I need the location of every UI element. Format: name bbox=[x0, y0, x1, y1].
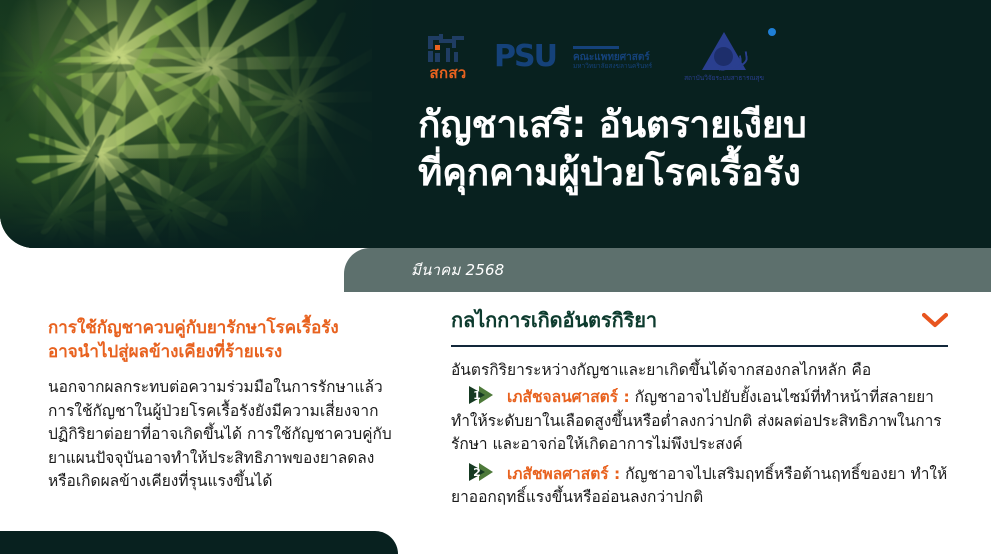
right-column: กลไกการเกิดอันตรกิริยา อันตรกิริยาระหว่า… bbox=[451, 304, 948, 510]
bottom-accent-shape bbox=[0, 531, 398, 554]
page-title: กัญชาเสรี: อันตรายเงียบ ที่คุกคามผู้ป่วย… bbox=[418, 101, 958, 197]
section-title: กลไกการเกิดอันตรกิริยา bbox=[451, 304, 657, 336]
mechanism-term: เภสัชจลนศาสตร์ : bbox=[507, 388, 630, 406]
hsri-logo-label: สถาบันวิจัยระบบสาธารณสุข bbox=[684, 73, 764, 83]
tsri-mark-icon bbox=[426, 34, 470, 64]
page-title-line2: ที่คุกคามผู้ป่วยโรคเรื้อรัง bbox=[418, 149, 958, 197]
page-title-line1: กัญชาเสรี: อันตรายเงียบ bbox=[418, 103, 807, 146]
left-paragraph: นอกจากผลกระทบต่อความร่วมมือในการรักษาแล้… bbox=[48, 376, 400, 494]
section-divider bbox=[451, 345, 948, 347]
mechanism-term: เภสัชพลศาสตร์ : bbox=[507, 465, 620, 483]
date-text: มีนาคม 2568 bbox=[411, 258, 504, 282]
hsri-logo: สถาบันวิจัยระบบสาธารณสุข bbox=[684, 32, 764, 83]
tsri-logo: สกสว bbox=[420, 34, 476, 81]
mechanism-item: 1 เภสัชจลนศาสตร์ : กัญชาอาจไปยับยั้งเอนไ… bbox=[451, 386, 948, 457]
chevron-down-icon[interactable] bbox=[922, 312, 948, 328]
hsri-triangle-icon bbox=[698, 32, 750, 72]
number-badge-icon: 1 bbox=[469, 386, 499, 405]
badge-number: 2 bbox=[471, 464, 483, 481]
infographic-page: สกสว PSU คณะแพทยศาสตร์ มหาวิทยาลัยสงขลาน… bbox=[0, 0, 991, 554]
number-badge-icon: 2 bbox=[469, 463, 499, 482]
logo-strip: สกสว PSU คณะแพทยศาสตร์ มหาวิทยาลัยสงขลาน… bbox=[420, 26, 764, 88]
psu-university-label: มหาวิทยาลัยสงขลานครินทร์ bbox=[573, 63, 652, 70]
left-lead-line1: การใช้กัญชาควบคู่กับยารักษาโรคเรื้อรัง bbox=[48, 318, 339, 338]
left-lead-line2: อาจนำไปสู่ผลข้างเคียงที่ร้ายแรง bbox=[48, 340, 400, 364]
badge-number: 1 bbox=[471, 387, 483, 404]
section-header[interactable]: กลไกการเกิดอันตรกิริยา bbox=[451, 304, 948, 336]
psu-logo: PSU คณะแพทยศาสตร์ มหาวิทยาลัยสงขลานครินท… bbox=[494, 42, 652, 72]
psu-text-block: คณะแพทยศาสตร์ มหาวิทยาลัยสงขลานครินทร์ bbox=[573, 44, 652, 70]
psu-rule bbox=[573, 46, 619, 49]
left-lead-heading: การใช้กัญชาควบคู่กับยารักษาโรคเรื้อรัง อ… bbox=[48, 316, 400, 364]
header-banner: สกสว PSU คณะแพทยศาสตร์ มหาวิทยาลัยสงขลาน… bbox=[0, 0, 991, 248]
photo-fade-vertical bbox=[0, 0, 372, 248]
mechanism-item: 2 เภสัชพลศาสตร์ : กัญชาอาจไปเสริมฤทธิ์หร… bbox=[451, 463, 948, 510]
tsri-logo-label: สกสว bbox=[429, 66, 466, 81]
psu-wordmark: PSU bbox=[494, 42, 556, 72]
content-area: การใช้กัญชาควบคู่กับยารักษาโรคเรื้อรัง อ… bbox=[0, 292, 991, 554]
cannabis-leaf-photo bbox=[0, 0, 372, 248]
date-bar: มีนาคม 2568 bbox=[344, 248, 991, 292]
left-column: การใช้กัญชาควบคู่กับยารักษาโรคเรื้อรัง อ… bbox=[48, 316, 400, 494]
mechanism-intro: อันตรกิริยาระหว่างกัญชาและยาเกิดขึ้นได้จ… bbox=[451, 359, 948, 382]
psu-dot-icon bbox=[768, 28, 776, 36]
